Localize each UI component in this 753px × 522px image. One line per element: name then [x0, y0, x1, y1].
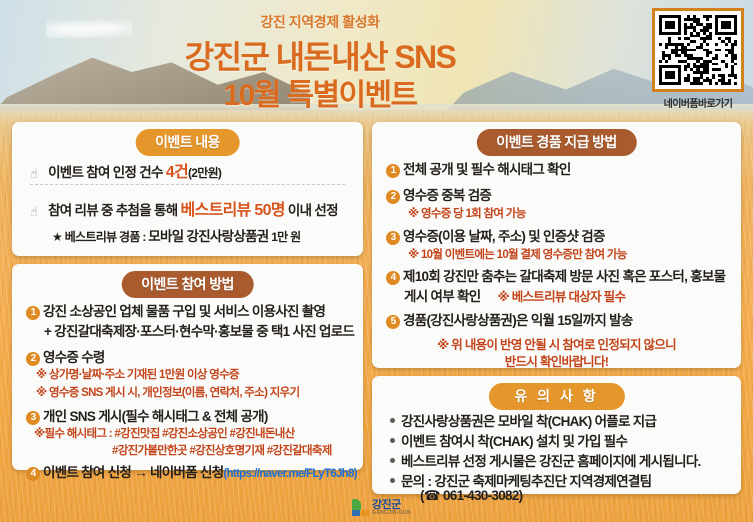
- logo-orange-shape: [361, 510, 369, 516]
- naver-form-link[interactable]: (https://naver.me/FLyT6Jh8): [223, 468, 356, 480]
- participation-item-1b: + 강진갈대축제장·포스터·현수막·홍보물 중 택1 사진 업로드: [44, 320, 354, 340]
- gangjin-gun-logo: 강진군 GANGJIN-GUN: [352, 499, 411, 516]
- prize-note-2: ※ 10월 이벤트에는 10월 결제 영수증만 참여 가능: [408, 246, 627, 262]
- step-number-2: 2: [26, 352, 40, 366]
- content-divider: [30, 184, 345, 185]
- logo-text: 강진군 GANGJIN-GUN: [372, 500, 411, 516]
- logo-text-english: GANGJIN-GUN: [372, 511, 411, 516]
- prize-step-number-4: 4: [386, 271, 400, 285]
- event-content-line1-highlight: 4건: [166, 164, 188, 181]
- participation-item-3-text: 개인 SNS 게시(필수 해시태그 & 전체 공개): [43, 409, 268, 424]
- bullet-icon-2: [390, 438, 395, 443]
- logo-blue-shape: [352, 510, 360, 516]
- event-content-line2-pre: 참여 리뷰 중 추첨을 통해: [48, 203, 177, 218]
- step-number-3: 3: [26, 411, 40, 425]
- event-content-line3-post: 1만 원: [271, 230, 300, 244]
- prize-step-number-2: 2: [386, 190, 400, 204]
- participation-item-2-text: 영수증 수령: [43, 350, 105, 365]
- prize-method-badge: 이벤트 경품 지급 방법: [476, 129, 636, 156]
- event-content-badge: 이벤트 내용: [135, 129, 240, 156]
- participation-badge: 이벤트 참여 방법: [121, 271, 254, 298]
- prize-item-4b-text: 게시 여부 확인: [404, 289, 480, 304]
- event-content-line-1: ☝ 이벤트 참여 인정 건수 4건(2만원): [30, 158, 221, 182]
- prize-method-card: 이벤트 경품 지급 방법 1전체 공개 및 필수 해시태그 확인 2영수증 중복…: [372, 122, 741, 368]
- step-number-1: 1: [26, 306, 40, 320]
- event-content-line3-highlight: 모바일 강진사랑상품권: [148, 229, 268, 244]
- poster-header: 강진 지역경제 활성화 강진군 내돈내산 SNS 10월 특별이벤트 네이버폼바…: [0, 0, 753, 120]
- event-content-line2-post: 이내 선정: [288, 203, 338, 218]
- pointing-hand-icon-2: ☝: [30, 204, 45, 220]
- prize-note-3: ※ 베스트리뷰 대상자 필수: [497, 290, 625, 304]
- event-content-card: 이벤트 내용 ☝ 이벤트 참여 인정 건수 4건(2만원) ☝ 참여 리뷰 중 …: [12, 122, 363, 256]
- notice-item-3: 베스트리뷰 선정 게시물은 강진군 홈페이지에 게시됩니다.: [390, 450, 701, 470]
- participation-item-1-text: 강진 소상공인 업체 물품 구입 및 서비스 이용사진 촬영: [43, 304, 325, 319]
- participation-item-4-text: 이벤트 참여 신청 → 네이버폼 신청: [43, 465, 223, 480]
- event-content-line3-pre: ★ 베스트리뷰 경품 :: [52, 230, 146, 244]
- qr-code-block[interactable]: 네이버폼바로가기: [652, 8, 744, 110]
- notice-item-3-text: 베스트리뷰 선정 게시물은 강진군 홈페이지에 게시됩니다.: [401, 454, 701, 469]
- qr-caption: 네이버폼바로가기: [652, 95, 744, 110]
- notice-item-2: 이벤트 참여시 착(CHAK) 설치 및 가입 필수: [390, 430, 627, 450]
- prize-item-2: 2영수증 중복 검증: [386, 184, 491, 204]
- event-content-line1-pre: 이벤트 참여 인정 건수: [48, 165, 163, 180]
- prize-item-4-text: 제10회 강진만 춤추는 갈대축제 방문 사진 혹은 포스터, 홍보물: [403, 269, 725, 284]
- prize-item-5-text: 경품(강진사랑상품권)은 익월 15일까지 발송: [403, 313, 633, 328]
- prize-item-2-text: 영수증 중복 검증: [403, 188, 491, 203]
- notice-item-1-text: 강진사랑상품권은 모바일 착(CHAK) 어플로 지급: [401, 414, 656, 429]
- participation-hashtags-line2: #강진가볼만한곳 #강진상호명기재 #강진갈대축제: [112, 442, 332, 458]
- header-subtitle: 강진 지역경제 활성화: [0, 12, 640, 32]
- prize-item-3: 3영수증(이용 날짜, 주소) 및 인증샷 검증: [386, 225, 605, 245]
- notice-item-1: 강진사랑상품권은 모바일 착(CHAK) 어플로 지급: [390, 410, 656, 430]
- prize-item-1-text: 전체 공개 및 필수 해시태그 확인: [403, 162, 571, 177]
- qr-code-image[interactable]: [659, 15, 737, 85]
- bullet-icon-1: [390, 418, 395, 423]
- event-content-line1-post: (2만원): [188, 166, 221, 180]
- prize-step-number-5: 5: [386, 315, 400, 329]
- qr-code-frame[interactable]: [652, 8, 744, 92]
- event-content-line2-highlight: 베스트리뷰 50명: [181, 202, 285, 219]
- event-content-line-3: ★ 베스트리뷰 경품 : 모바일 강진사랑상품권 1만 원: [52, 225, 300, 245]
- participation-note-1: ※ 상가명·날짜·주소 기재된 1만원 이상 영수증: [36, 366, 239, 382]
- notice-item-4: 문의 : 강진군 축제마케팅추진단 지역경제연결팀: [390, 470, 651, 490]
- prize-step-number-1: 1: [386, 164, 400, 178]
- bullet-icon-3: [390, 458, 395, 463]
- logo-mark-icon: [352, 499, 369, 516]
- notice-item-4-text: 문의 : 강진군 축제마케팅추진단 지역경제연결팀: [401, 474, 651, 489]
- notice-badge: 유 의 사 항: [488, 383, 624, 410]
- prize-item-3-text: 영수증(이용 날짜, 주소) 및 인증샷 검증: [403, 229, 605, 244]
- prize-item-1: 1전체 공개 및 필수 해시태그 확인: [386, 158, 571, 178]
- prize-warning-line2: 반드시 확인바랍니다!: [372, 351, 741, 370]
- logo-text-korean: 강진군: [372, 500, 411, 511]
- participation-item-1: 1강진 소상공인 업체 물품 구입 및 서비스 이용사진 촬영: [26, 300, 325, 320]
- participation-item-4: 4이벤트 참여 신청 → 네이버폼 신청(https://naver.me/FL…: [26, 461, 357, 481]
- bullet-icon-4: [390, 478, 395, 483]
- participation-item-3: 3개인 SNS 게시(필수 해시태그 & 전체 공개): [26, 405, 268, 425]
- notice-phone: (☎ 061-430-3082): [420, 488, 522, 504]
- prize-item-4b: 게시 여부 확인 ※ 베스트리뷰 대상자 필수: [404, 285, 625, 305]
- notice-card: 유 의 사 항 강진사랑상품권은 모바일 착(CHAK) 어플로 지급 이벤트 …: [372, 376, 741, 494]
- participation-hashtags-line1: ※필수 해시태그 : #강진맛집 #강진소상공인 #강진내돈내산: [34, 425, 295, 441]
- participation-method-card: 이벤트 참여 방법 1강진 소상공인 업체 물품 구입 및 서비스 이용사진 촬…: [12, 264, 363, 470]
- event-content-line-2: ☝ 참여 리뷰 중 추첨을 통해 베스트리뷰 50명 이내 선정: [30, 196, 338, 220]
- prize-note-1: ※ 영수증 당 1회 참여 가능: [408, 205, 526, 221]
- notice-item-2-text: 이벤트 참여시 착(CHAK) 설치 및 가입 필수: [401, 434, 627, 449]
- participation-item-2: 2영수증 수령: [26, 346, 105, 366]
- participation-item-1b-text: + 강진갈대축제장·포스터·현수막·홍보물 중 택1 사진 업로드: [44, 324, 354, 339]
- prize-step-number-3: 3: [386, 231, 400, 245]
- prize-item-5: 5경품(강진사랑상품권)은 익월 15일까지 발송: [386, 309, 633, 329]
- header-title-line2: 10월 특별이벤트: [0, 70, 640, 114]
- prize-item-4: 4제10회 강진만 춤추는 갈대축제 방문 사진 혹은 포스터, 홍보물: [386, 265, 725, 285]
- pointing-hand-icon: ☝: [30, 166, 45, 182]
- step-number-4: 4: [26, 467, 40, 481]
- participation-note-2: ※ 영수증 SNS 게시 시, 개인정보(이름, 연락처, 주소) 지우기: [36, 384, 299, 400]
